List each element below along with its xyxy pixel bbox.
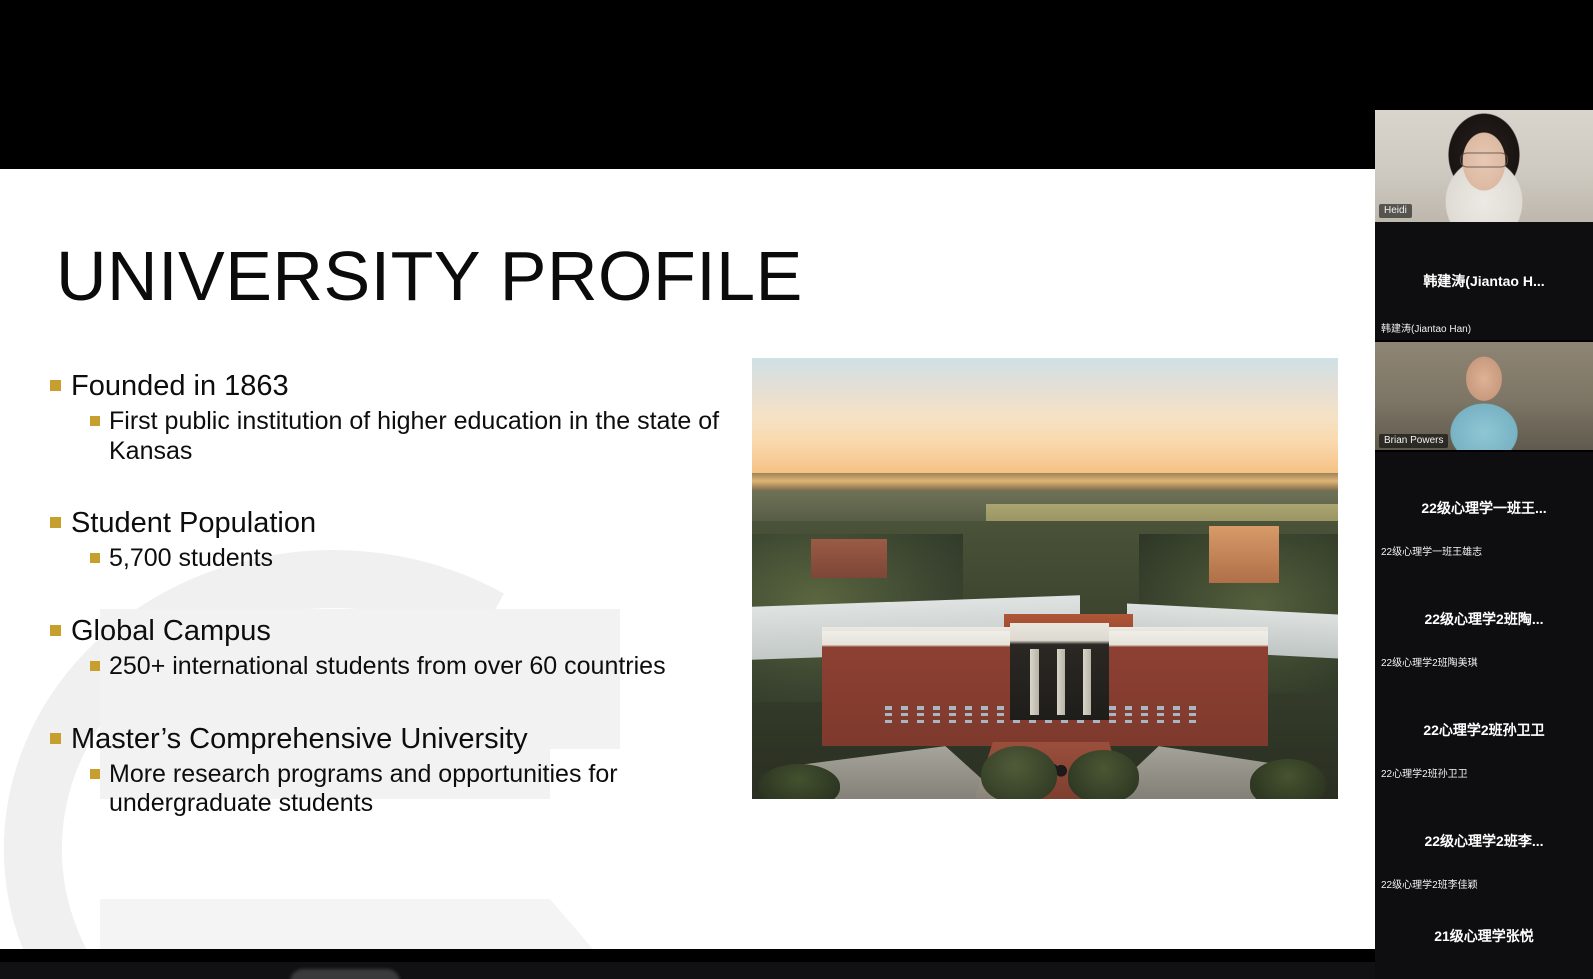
participant-avatar-label: 韩建涛(Jiantao H... bbox=[1375, 271, 1593, 291]
meeting-bottom-bar[interactable] bbox=[0, 962, 1375, 979]
participant-name-tag: 韩建涛(Jiantao Han) bbox=[1379, 319, 1473, 336]
bullet-level1: Student Population bbox=[50, 506, 750, 540]
floating-toolbar-pill[interactable] bbox=[290, 969, 400, 979]
square-bullet-icon bbox=[90, 416, 100, 426]
participant-avatar-label: 22级心理学2班陶... bbox=[1375, 609, 1593, 629]
participant-name-tag: 22心理学2班孙卫卫 bbox=[1379, 764, 1470, 781]
participant-avatar-label: 22级心理学一班王... bbox=[1375, 498, 1593, 518]
bullet-level1: Founded in 1863 bbox=[50, 369, 750, 403]
shared-screen-region[interactable]: UNIVERSITY PROFILE Founded in 1863 First… bbox=[0, 0, 1375, 962]
distant-brick-building bbox=[811, 539, 887, 579]
residence-tower bbox=[1209, 526, 1279, 583]
bullet-level2-text: 250+ international students from over 60… bbox=[109, 652, 666, 682]
participants-filmstrip[interactable]: Heidi 韩建涛(Jiantao H... 韩建涛(Jiantao Han) … bbox=[1375, 0, 1593, 979]
slide-bullet-list: Founded in 1863 First public institution… bbox=[50, 369, 750, 841]
bullet-level1-text: Global Campus bbox=[71, 614, 271, 648]
foreground-tree bbox=[981, 746, 1057, 799]
bullet-level2: First public institution of higher educa… bbox=[90, 407, 750, 466]
bullet-level2-text: 5,700 students bbox=[109, 544, 273, 574]
square-bullet-icon bbox=[50, 517, 61, 528]
square-bullet-icon bbox=[50, 733, 61, 744]
window-row bbox=[885, 720, 1206, 724]
bullet-level1-text: Master’s Comprehensive University bbox=[71, 722, 528, 756]
participant-tile-zhangyue[interactable]: 21级心理学张悦 bbox=[1375, 896, 1593, 979]
bullet-block: Founded in 1863 First public institution… bbox=[50, 369, 750, 466]
participant-name-tag: Brian Powers bbox=[1379, 434, 1448, 448]
bullet-block: Global Campus 250+ international student… bbox=[50, 614, 750, 682]
bullet-block: Master’s Comprehensive University More r… bbox=[50, 722, 750, 819]
participant-name-tag: 22级心理学一班王雄志 bbox=[1379, 542, 1484, 559]
square-bullet-icon bbox=[50, 625, 61, 636]
participant-tile-lijiaying[interactable]: 22级心理学2班李... 22级心理学2班李佳颖 bbox=[1375, 785, 1593, 896]
foreground-tree bbox=[1068, 750, 1138, 799]
column bbox=[1057, 649, 1065, 715]
participant-tile-brian-powers[interactable]: Brian Powers bbox=[1375, 340, 1593, 452]
bullet-level1: Global Campus bbox=[50, 614, 750, 648]
bullet-level1: Master’s Comprehensive University bbox=[50, 722, 750, 756]
participant-tile-taomeiqi[interactable]: 22级心理学2班陶... 22级心理学2班陶美琪 bbox=[1375, 563, 1593, 674]
presentation-slide[interactable]: UNIVERSITY PROFILE Founded in 1863 First… bbox=[0, 169, 1375, 949]
participant-tile-heidi[interactable]: Heidi bbox=[1375, 110, 1593, 222]
participant-avatar-label: 21级心理学张悦 bbox=[1375, 926, 1593, 946]
participant-name-tag: Heidi bbox=[1379, 204, 1412, 218]
bullet-level2: More research programs and opportunities… bbox=[90, 760, 650, 819]
zoom-meeting-window: UNIVERSITY PROFILE Founded in 1863 First… bbox=[0, 0, 1593, 979]
square-bullet-icon bbox=[90, 661, 100, 671]
bullet-block: Student Population 5,700 students bbox=[50, 506, 750, 574]
participant-name-tag: 22级心理学2班李佳颖 bbox=[1379, 875, 1480, 892]
bullet-level2-text: More research programs and opportunities… bbox=[109, 760, 650, 819]
bullet-level1-text: Founded in 1863 bbox=[71, 369, 289, 403]
participant-avatar-label: 22心理学2班孙卫卫 bbox=[1375, 720, 1593, 740]
sky bbox=[752, 358, 1338, 473]
participant-avatar-label: 22级心理学2班李... bbox=[1375, 831, 1593, 851]
participant-tile-jiantao-han[interactable]: 韩建涛(Jiantao H... 韩建涛(Jiantao Han) bbox=[1375, 222, 1593, 340]
foreground-tree bbox=[1250, 759, 1326, 799]
bullet-level1-text: Student Population bbox=[71, 506, 316, 540]
campus-aerial-photo bbox=[752, 358, 1338, 799]
filmstrip-top-spacer bbox=[1375, 0, 1593, 110]
column bbox=[1083, 649, 1091, 715]
participant-tile-wangxiongzhi[interactable]: 22级心理学一班王... 22级心理学一班王雄志 bbox=[1375, 452, 1593, 563]
bullet-level2: 250+ international students from over 60… bbox=[90, 652, 750, 682]
column bbox=[1030, 649, 1038, 715]
bullet-level2: 5,700 students bbox=[90, 544, 750, 574]
slide-title: UNIVERSITY PROFILE bbox=[56, 241, 803, 311]
square-bullet-icon bbox=[90, 553, 100, 563]
square-bullet-icon bbox=[50, 380, 61, 391]
square-bullet-icon bbox=[90, 769, 100, 779]
bullet-level2-text: First public institution of higher educa… bbox=[109, 407, 750, 466]
participant-name-tag: 22级心理学2班陶美琪 bbox=[1379, 653, 1480, 670]
participant-tile-sunweiwei[interactable]: 22心理学2班孙卫卫 22心理学2班孙卫卫 bbox=[1375, 674, 1593, 785]
